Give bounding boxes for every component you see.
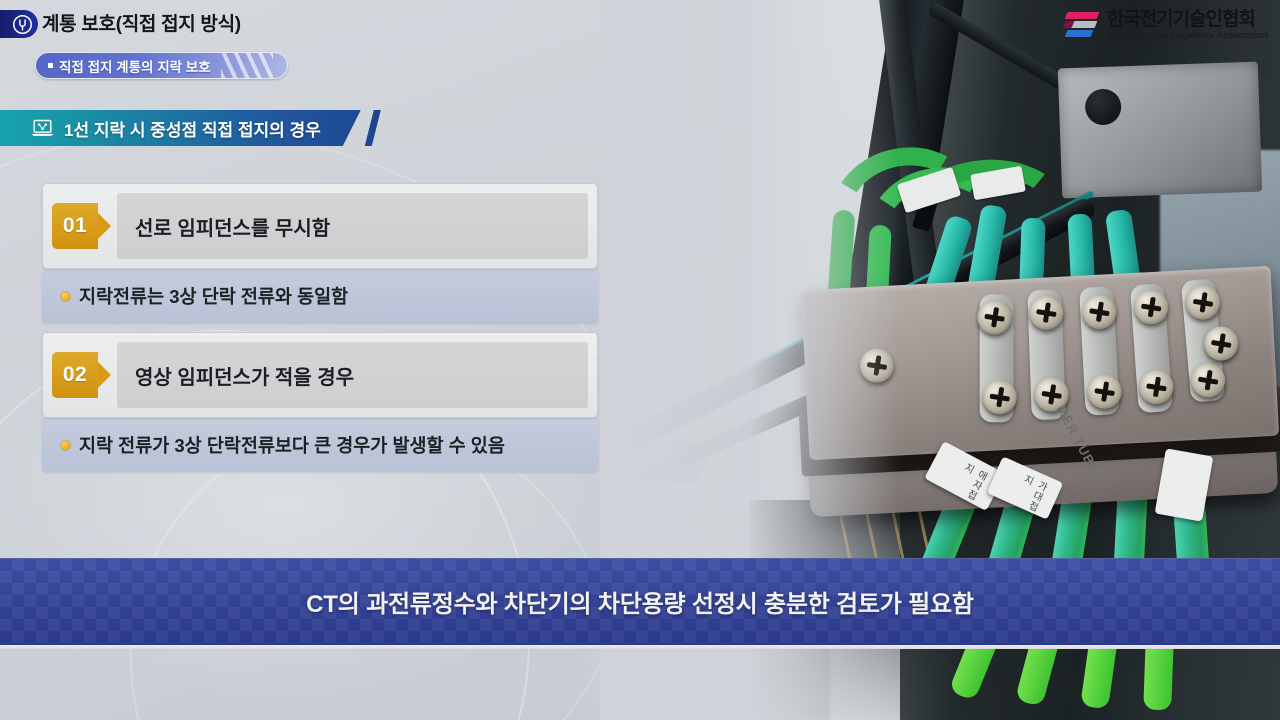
number-badge-label: 02 (63, 363, 87, 387)
metal-bracket (1058, 62, 1262, 199)
bullet-dot-icon (61, 292, 70, 301)
heading-text: 선로 임피던스를 무시함 (117, 193, 588, 259)
subtitle-badge: 직접 접지 계통의 지락 보호 (35, 52, 288, 79)
bullet-text: 지락 전류가 3상 단락전류보다 큰 경우가 발생할 수 있음 (79, 432, 505, 458)
banner-text: CT의 과전류정수와 차단기의 차단용량 선정시 충분한 검토가 필요함 (306, 584, 974, 619)
association-logo: 한국전기기술인협회 Korea Electric Engineers Assoc… (1066, 8, 1268, 42)
content-block: 02 영상 임피던스가 적을 경우 지락 전류가 3상 단락전류보다 큰 경우가… (42, 332, 598, 472)
terminal-block (801, 266, 1279, 460)
section-header: 1선 지락 시 중성점 직접 접지의 경우 (0, 110, 381, 146)
subtitle-bullet-icon (48, 63, 53, 68)
bullet-row: 지락전류는 3상 단락 전류와 동일함 (42, 269, 598, 323)
bullet-dot-icon (61, 441, 70, 450)
section-chevron-decor (365, 110, 381, 146)
number-badge: 02 (52, 352, 98, 398)
number-badge-label: 01 (63, 214, 87, 238)
bullet-text: 지락전류는 3상 단락 전류와 동일함 (79, 283, 348, 309)
logo-mark-icon (1066, 10, 1100, 40)
slide-canvas: MER TUBE 애자접지 가대접지 계통 보호(직접 접지 방식) 직접 접지… (0, 0, 1280, 720)
bottom-banner: CT의 과전류정수와 차단기의 차단용량 선정시 충분한 검토가 필요함 (0, 558, 1280, 645)
banner-underline (0, 645, 1280, 649)
subtitle-label: 직접 접지 계통의 지락 보호 (59, 56, 211, 76)
page-title: 계통 보호(직접 접지 방식) (42, 9, 241, 36)
number-badge: 01 (52, 203, 98, 249)
logo-name-kr: 한국전기기술인협회 (1107, 10, 1268, 29)
logo-name-en: Korea Electric Engineers Association (1107, 31, 1268, 41)
power-plug-circle-icon (12, 14, 33, 35)
content-block: 01 선로 임피던스를 무시함 지락전류는 3상 단락 전류와 동일함 (42, 183, 598, 323)
decor-stripes (221, 53, 273, 78)
bullet-row: 지락 전류가 3상 단락전류보다 큰 경우가 발생할 수 있음 (42, 418, 598, 472)
laptop-icon (30, 118, 55, 138)
numbered-heading-row: 01 선로 임피던스를 무시함 (42, 183, 598, 269)
content-list: 01 선로 임피던스를 무시함 지락전류는 3상 단락 전류와 동일함 02 영… (42, 183, 598, 481)
section-header-bar: 1선 지락 시 중성점 직접 접지의 경우 (0, 110, 361, 146)
title-icon-badge (0, 10, 38, 38)
numbered-heading-row: 02 영상 임피던스가 적을 경우 (42, 332, 598, 418)
heading-text: 영상 임피던스가 적을 경우 (117, 342, 588, 408)
section-title: 1선 지락 시 중성점 직접 접지의 경우 (64, 116, 321, 141)
